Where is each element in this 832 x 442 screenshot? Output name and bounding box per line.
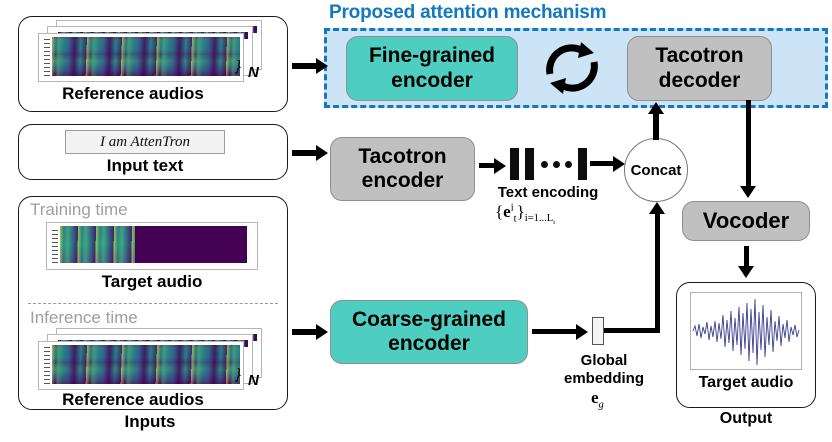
global-embedding-line1: Global bbox=[556, 352, 652, 369]
tacotron-encoder-line2: encoder bbox=[358, 169, 446, 193]
arrow-vocoder-to-output-head bbox=[738, 266, 754, 278]
arrow-inputs-to-coarse-head bbox=[316, 324, 328, 340]
tacotron-decoder-line1: Tacotron bbox=[655, 44, 743, 68]
global-embedding-vector bbox=[592, 317, 604, 345]
global-embedding-math: eg bbox=[591, 388, 604, 410]
diagram-canvas: Proposed attention mechanism Fine-graine… bbox=[0, 0, 832, 442]
arrow-coarse-to-gembed-head bbox=[576, 324, 588, 340]
coarse-grained-encoder-line2: encoder bbox=[352, 332, 506, 356]
arrow-encoder-to-textenc-head bbox=[494, 158, 506, 174]
arrow-concat-to-decoder-head bbox=[648, 102, 664, 114]
proposed-attention-title: Proposed attention mechanism bbox=[329, 2, 606, 24]
reference-count-bottom: N bbox=[248, 372, 259, 389]
target-audio-input-label: Target audio bbox=[46, 272, 258, 292]
training-time-label: Training time bbox=[30, 200, 210, 220]
tacotron-decoder-line2: decoder bbox=[655, 69, 743, 93]
arrow-inputs-to-coarse-line bbox=[292, 329, 318, 335]
coarse-grained-encoder-line1: Coarse-grained bbox=[352, 308, 506, 332]
fine-grained-encoder-line1: Fine-grained bbox=[369, 44, 495, 68]
coarse-grained-encoder-box[interactable]: Coarse-grained encoder bbox=[330, 300, 528, 364]
text-encoding-bars bbox=[510, 148, 588, 180]
inputs-group-label: Inputs bbox=[80, 412, 220, 432]
arrow-refaudio-to-panel-line bbox=[292, 63, 318, 69]
tacotron-encoder-box[interactable]: Tacotron encoder bbox=[330, 137, 475, 201]
target-audio-output-label: Target audio bbox=[690, 374, 802, 392]
recurrent-loop-icon bbox=[536, 37, 608, 99]
arrow-gembed-to-concat-h bbox=[604, 328, 660, 333]
arrow-concat-to-decoder-line bbox=[653, 112, 659, 140]
arrow-gembed-to-concat-v bbox=[655, 212, 660, 332]
target-audio-waveform bbox=[690, 292, 802, 370]
arrow-coarse-to-gembed-line bbox=[532, 329, 580, 334]
global-embedding-line2: embedding bbox=[540, 370, 668, 387]
fine-grained-encoder-box[interactable]: Fine-grained encoder bbox=[346, 36, 518, 101]
input-text-label: Input text bbox=[65, 156, 225, 176]
arrow-decoder-to-vocoder-head bbox=[740, 186, 756, 198]
target-audio-input-thumbnail bbox=[46, 222, 258, 270]
arrow-refaudio-to-panel-head bbox=[316, 58, 328, 74]
inference-time-label: Inference time bbox=[30, 308, 230, 328]
text-encoding-math: {eit}i=1...Lt bbox=[495, 202, 555, 227]
reference-audios-top-label: Reference audios bbox=[38, 84, 228, 104]
tacotron-decoder-box[interactable]: Tacotron decoder bbox=[627, 36, 772, 101]
training-inference-divider bbox=[28, 303, 278, 304]
concat-node[interactable]: Concat bbox=[624, 138, 688, 202]
reference-audios-bottom-label: Reference audios bbox=[38, 390, 228, 410]
tacotron-encoder-line1: Tacotron bbox=[358, 145, 446, 169]
fine-grained-encoder-line2: encoder bbox=[369, 69, 495, 93]
vocoder-box[interactable]: Vocoder bbox=[682, 201, 810, 241]
arrow-gembed-to-concat-head bbox=[649, 202, 665, 214]
vocoder-label: Vocoder bbox=[703, 208, 789, 233]
arrow-inputtext-head bbox=[316, 145, 328, 161]
output-group-label: Output bbox=[690, 410, 802, 428]
input-text-value[interactable]: I am AttenTron bbox=[65, 130, 225, 154]
text-encoding-label: Text encoding bbox=[478, 184, 618, 201]
arrow-inputtext-line bbox=[292, 150, 318, 156]
reference-count-top: N bbox=[248, 64, 259, 81]
arrow-decoder-to-vocoder-line bbox=[746, 100, 751, 190]
